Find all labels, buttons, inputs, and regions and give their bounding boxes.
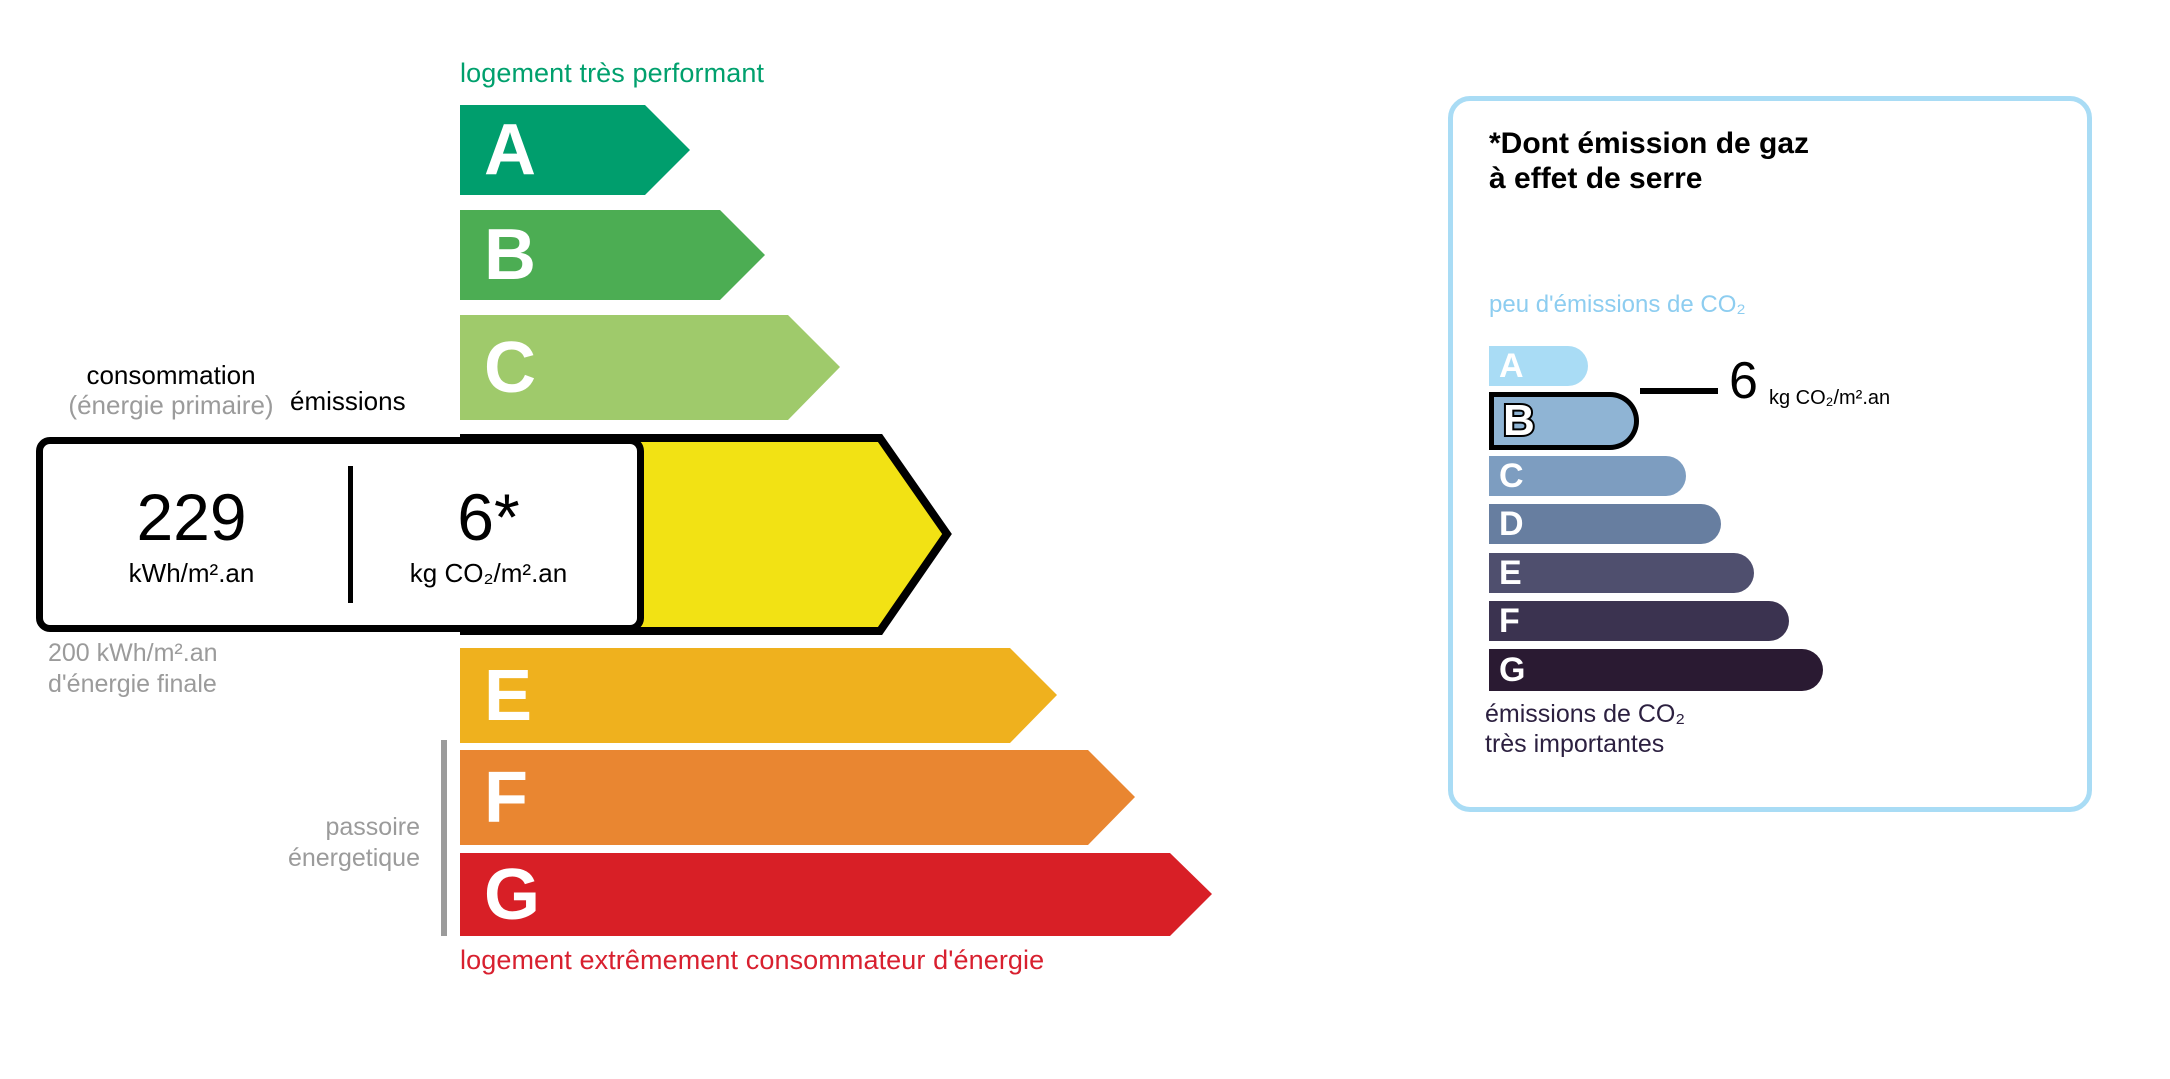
emissions-value: 6* [457,484,519,550]
ges-band-C[interactable]: C [1489,456,1686,496]
ges-band-F[interactable]: F [1489,601,1789,641]
energy-band-E[interactable]: E [460,648,1057,743]
ges-band-B[interactable]: B [1489,392,1639,450]
emissions-metric: 6* kg CO₂/m².an [340,444,637,625]
consumption-metric: 229 kWh/m².an [43,444,340,625]
energy-band-G[interactable]: G [460,853,1212,936]
ges-bar-G [1489,649,1823,691]
ges-band-G[interactable]: G [1489,649,1823,691]
greenhouse-gas-panel: *Dont émission de gaz à effet de serre p… [1448,96,2092,812]
scale-bottom-caption: logement extrêmement consommateur d'éner… [460,945,1044,976]
ges-bar-F [1489,601,1789,641]
ges-bar-E [1489,553,1754,593]
band-arrow-E [460,648,1057,743]
emissions-unit: kg CO₂/m².an [410,560,567,586]
energy-band-A[interactable]: A [460,105,690,195]
ges-letter-B: B [1503,399,1535,443]
consumption-label-group: consommation (énergie primaire) [46,360,296,420]
ges-callout-value: 6 [1729,355,1758,407]
consumption-unit: kWh/m².an [129,560,255,586]
ges-top-caption: peu d'émissions de CO₂ [1489,291,1746,319]
ges-letter-C: C [1499,459,1524,493]
energy-band-F[interactable]: F [460,750,1135,845]
ges-letter-E: E [1499,556,1522,590]
ges-band-D[interactable]: D [1489,504,1721,544]
band-letter-C: C [484,332,536,404]
ges-bar-D [1489,504,1721,544]
ges-callout-unit: kg CO₂/m².an [1769,388,1890,408]
ges-panel-title: *Dont émission de gaz à effet de serre [1489,127,1809,197]
ges-letter-G: G [1499,653,1525,687]
band-letter-F: F [484,762,528,834]
passoire-label: passoire énergetique [200,812,420,874]
final-energy-note: 200 kWh/m².an d'énergie finale [48,638,218,700]
consumption-label: consommation [86,360,255,390]
band-arrow-F [460,750,1135,845]
band-letter-B: B [484,219,536,291]
energy-band-C[interactable]: C [460,315,840,420]
current-values-box: 229 kWh/m².an 6* kg CO₂/m².an [36,437,644,632]
scale-top-caption: logement très performant [460,58,764,89]
ges-band-E[interactable]: E [1489,553,1754,593]
ges-bottom-caption: émissions de CO₂ très importantes [1485,699,1685,759]
emissions-label: émissions [290,386,406,416]
ges-letter-A: A [1499,349,1524,383]
band-letter-G: G [484,859,540,931]
ges-callout-leader-line [1640,388,1718,394]
passoire-marker-line [441,740,447,936]
energy-band-B[interactable]: B [460,210,765,300]
ges-band-A[interactable]: A [1489,346,1588,386]
consumption-value: 229 [136,484,246,550]
energy-performance-scale: logement très performant A B C [0,0,1300,1079]
ges-letter-D: D [1499,507,1524,541]
consumption-sublabel: (énergie primaire) [46,390,296,420]
band-letter-E: E [484,660,532,732]
band-arrow-G [460,853,1212,936]
band-letter-A: A [484,114,536,186]
ges-letter-F: F [1499,604,1520,638]
